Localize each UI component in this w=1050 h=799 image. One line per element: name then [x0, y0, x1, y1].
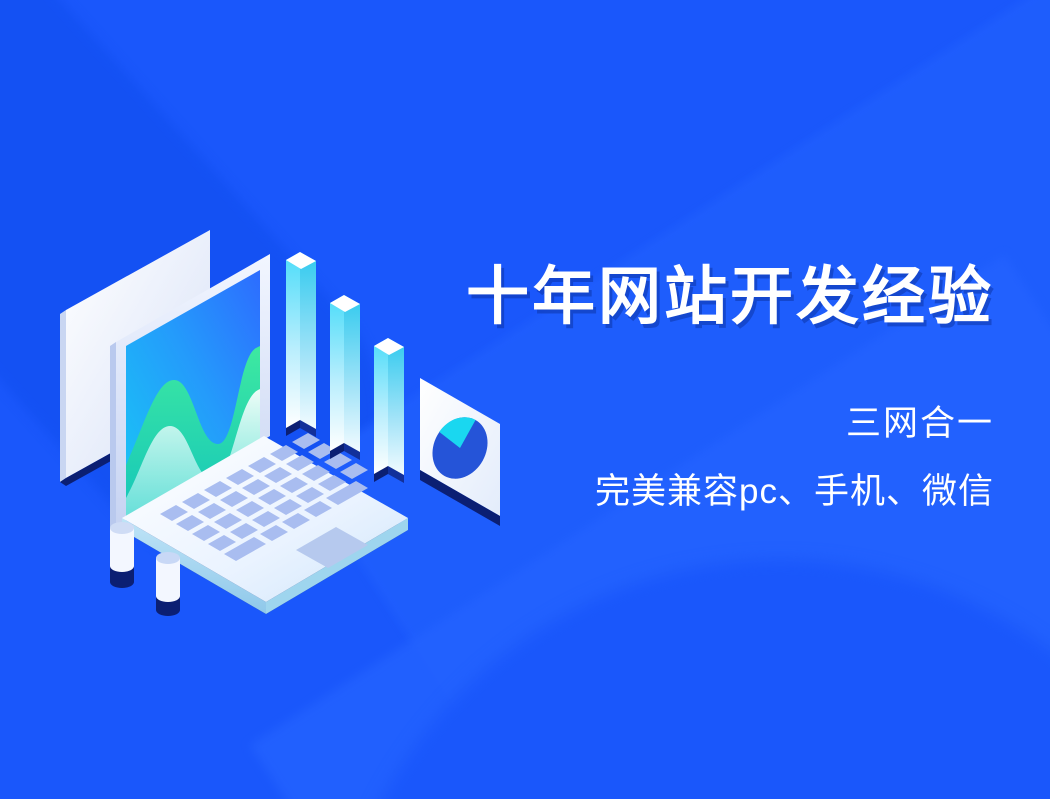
headline: 十年网站开发经验: [374, 262, 994, 333]
subtitle-line-2: 完美兼容pc、手机、微信: [374, 471, 994, 513]
copy-block: 十年网站开发经验 三网合一 完美兼容pc、手机、微信: [374, 262, 994, 513]
cylinder-short: [156, 552, 180, 616]
promo-banner: 十年网站开发经验 三网合一 完美兼容pc、手机、微信: [0, 0, 1050, 799]
cylinder-tall: [110, 522, 134, 588]
subtitle-line-1: 三网合一: [374, 403, 994, 445]
